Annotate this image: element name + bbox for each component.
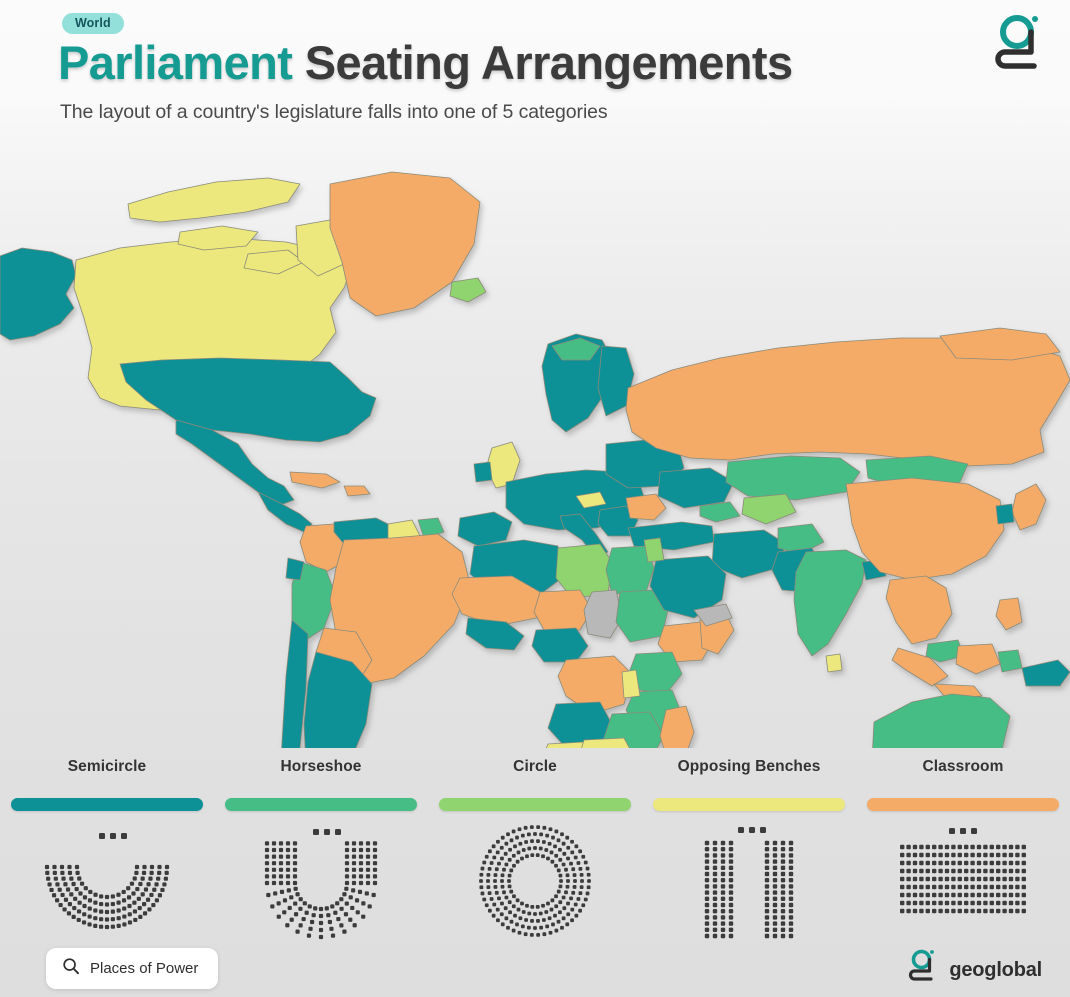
page-subtitle: The layout of a country's legislature fa… xyxy=(60,101,608,124)
region-levant[interactable] xyxy=(644,538,664,562)
header: World Parliament Seating Arrangements Th… xyxy=(0,0,1070,148)
legend-swatch-classroom xyxy=(867,798,1059,811)
region-korea[interactable] xyxy=(996,504,1014,524)
legend-item-horseshoe[interactable]: Horseshoe xyxy=(214,752,428,942)
region-ukraine[interactable] xyxy=(658,468,734,508)
legend-label-classroom: Classroom xyxy=(922,758,1003,776)
region-caucasus[interactable] xyxy=(700,502,740,522)
places-of-power-button[interactable]: Places of Power xyxy=(46,948,218,989)
region-sri-lanka[interactable] xyxy=(826,654,842,672)
region-ireland[interactable] xyxy=(474,462,492,482)
region-west-africa-coast[interactable] xyxy=(466,618,524,650)
region-papua-new-guinea[interactable] xyxy=(1022,660,1070,686)
legend-label-opposing-benches: Opposing Benches xyxy=(678,758,821,776)
region-iceland[interactable] xyxy=(450,278,486,302)
region-turkey[interactable] xyxy=(628,522,714,550)
region-hispaniola[interactable] xyxy=(344,486,370,496)
region-russia-far-east[interactable] xyxy=(940,328,1060,360)
region-cuba[interactable] xyxy=(290,472,340,488)
brand-name: geoglobal xyxy=(949,959,1042,982)
horseshoe-seating-icon xyxy=(221,821,421,941)
legend-label-semicircle: Semicircle xyxy=(68,758,147,776)
legend-swatch-semicircle xyxy=(11,798,203,811)
legend-item-classroom[interactable]: Classroom xyxy=(856,752,1070,942)
region-iberia[interactable] xyxy=(458,512,512,546)
places-of-power-label: Places of Power xyxy=(90,960,198,977)
legend-label-circle: Circle xyxy=(513,758,557,776)
page-title-accent: Parliament xyxy=(58,36,292,89)
region-chile[interactable] xyxy=(278,620,308,748)
region-chad[interactable] xyxy=(584,590,622,638)
page-title-rest: Seating Arrangements xyxy=(292,36,792,89)
region-australia[interactable] xyxy=(872,694,1010,748)
region-united-states[interactable] xyxy=(120,358,376,442)
region-madagascar[interactable] xyxy=(660,706,694,748)
region-niger[interactable] xyxy=(534,590,592,630)
region-kazakhstan[interactable] xyxy=(726,456,860,500)
region-philippines[interactable] xyxy=(996,598,1022,630)
legend-swatch-circle xyxy=(439,798,631,811)
legend-item-opposing-benches[interactable]: Opposing Benches xyxy=(642,752,856,942)
region-romania[interactable] xyxy=(626,494,666,520)
region-nigeria[interactable] xyxy=(532,628,588,662)
region-arctic-isle-a[interactable] xyxy=(178,226,258,250)
region-uzbekistan[interactable] xyxy=(742,494,796,524)
region-badge: World xyxy=(62,13,124,34)
legend-swatch-opposing-benches xyxy=(653,798,845,811)
infographic-poster: World Parliament Seating Arrangements Th… xyxy=(0,0,1070,997)
legend-label-horseshoe: Horseshoe xyxy=(280,758,361,776)
footer-brand[interactable]: geoglobal xyxy=(905,948,1042,993)
footer: Places of Power geoglobal xyxy=(0,938,1070,997)
circle-seating-icon xyxy=(435,821,635,941)
geoglobal-g-logo-icon xyxy=(905,948,939,993)
region-southeast-asia[interactable] xyxy=(886,576,952,644)
region-borneo[interactable] xyxy=(956,644,1000,674)
region-libya[interactable] xyxy=(556,544,612,598)
opposing-benches-seating-icon xyxy=(649,821,849,941)
region-sulawesi[interactable] xyxy=(998,650,1022,672)
world-map[interactable] xyxy=(0,148,1070,748)
region-canadian-arctic[interactable] xyxy=(128,178,300,222)
geoglobal-g-logo-icon xyxy=(988,12,1046,78)
region-japan[interactable] xyxy=(1012,484,1046,530)
legend-swatch-horseshoe xyxy=(225,798,417,811)
semicircle-seating-icon xyxy=(7,821,207,941)
legend: Semicircle Horseshoe xyxy=(0,752,1070,942)
search-icon xyxy=(62,957,80,980)
world-map-svg[interactable] xyxy=(0,148,1070,748)
region-alaska[interactable] xyxy=(0,248,76,340)
legend-item-circle[interactable]: Circle xyxy=(428,752,642,942)
region-india[interactable] xyxy=(794,550,866,656)
page-title: Parliament Seating Arrangements xyxy=(58,38,793,88)
classroom-seating-icon xyxy=(863,821,1063,941)
legend-item-semicircle[interactable]: Semicircle xyxy=(0,752,214,942)
